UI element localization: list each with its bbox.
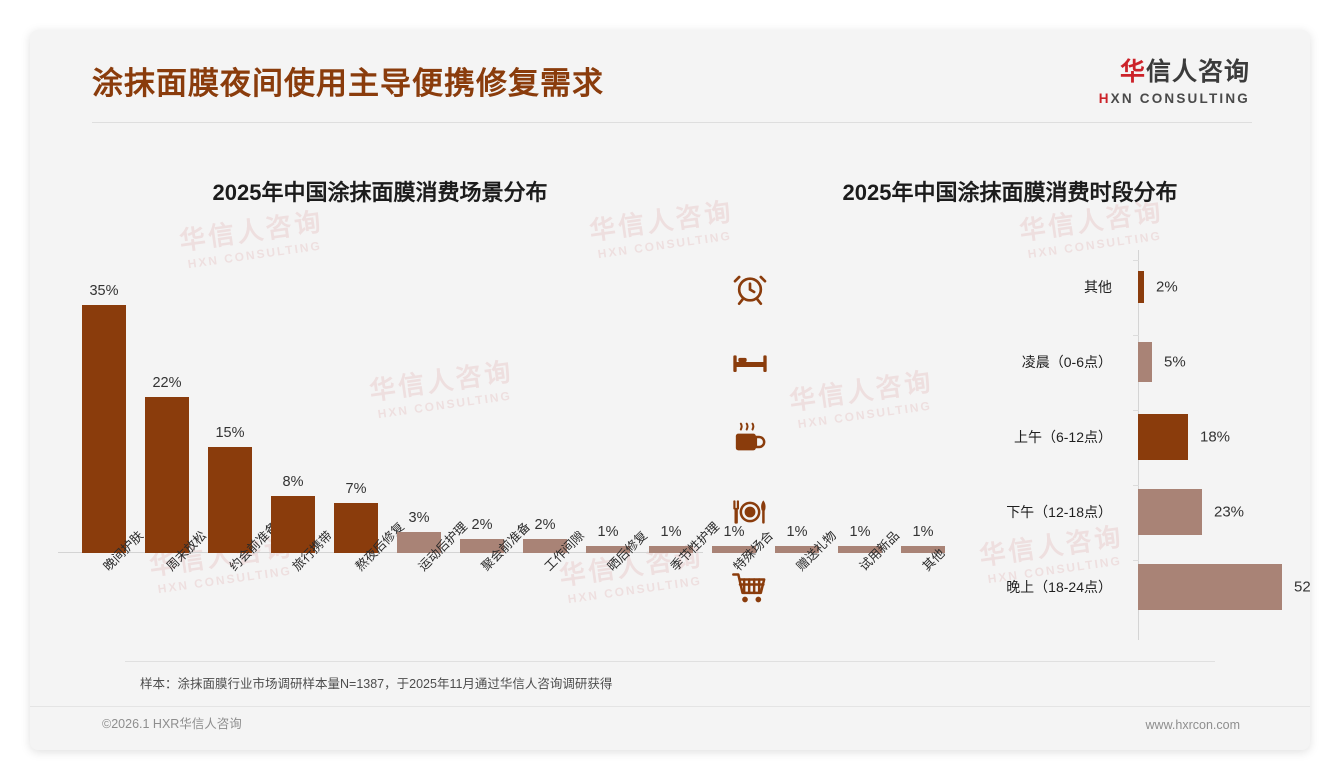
time-bar[interactable]: [1138, 271, 1144, 303]
time-bar-label: 其他: [1084, 277, 1112, 297]
time-chart-tick: [1133, 485, 1139, 486]
scene-bar-value: 7%: [346, 481, 367, 497]
time-chart-plot: 其他2%凌晨（0-6点）5%上午（6-12点）18%下午（12-18点）23%晚…: [720, 250, 1300, 660]
time-chart-tick: [1133, 560, 1139, 561]
time-bar-value: 18%: [1200, 429, 1230, 446]
logo-h-character: H: [1099, 91, 1111, 106]
scene-bar-value: 2%: [472, 517, 493, 533]
footer-divider: [30, 706, 1310, 707]
scene-bar-value: 2%: [535, 517, 556, 533]
logo-english-rest: XN CONSULTING: [1111, 91, 1250, 106]
time-bar-value: 23%: [1214, 504, 1244, 521]
logo-hua-character: 华: [1120, 58, 1146, 86]
scene-bar[interactable]: [145, 397, 189, 553]
time-bar-label: 上午（6-12点）: [1014, 427, 1112, 447]
time-bar[interactable]: [1138, 342, 1152, 382]
time-bar-label: 凌晨（0-6点）: [1022, 352, 1112, 372]
copyright-text: ©2026.1 HXR华信人咨询: [102, 713, 242, 732]
time-bar-label: 下午（12-18点）: [1006, 502, 1112, 522]
page-title: 涂抹面膜夜间使用主导便携修复需求: [92, 58, 604, 103]
scene-bar-value: 35%: [89, 283, 118, 299]
alarm-clock-icon: [730, 267, 772, 307]
time-chart-title: 2025年中国涂抹面膜消费时段分布: [720, 175, 1300, 207]
time-bar-row[interactable]: 下午（12-18点）23%: [720, 483, 1300, 541]
time-chart-tick: [1133, 260, 1139, 261]
time-bar[interactable]: [1138, 489, 1202, 535]
time-bar-row[interactable]: 其他2%: [720, 258, 1300, 316]
scene-bar-value: 8%: [283, 474, 304, 490]
plate-cutlery-icon: [730, 492, 772, 532]
sample-divider: [125, 661, 1215, 662]
bed-icon: [730, 342, 772, 382]
scene-chart-title: 2025年中国涂抹面膜消费场景分布: [40, 175, 720, 207]
logo-chinese: 华信人咨询: [1099, 60, 1250, 85]
time-chart-tick: [1133, 335, 1139, 336]
coffee-cup-icon: [730, 417, 772, 457]
slide-canvas: 华信人咨询 HXN CONSULTING 华信人咨询 HXN CONSULTIN…: [30, 30, 1310, 750]
time-bar[interactable]: [1138, 564, 1282, 610]
header-divider: [92, 122, 1252, 123]
time-bar-value: 2%: [1156, 279, 1178, 296]
scene-bar-value: 22%: [152, 375, 181, 391]
scene-bar-value: 3%: [409, 510, 430, 526]
scene-chart-plot: 35%晚间护肤22%周末放松15%约会前准备8%旅行携带7%熬夜后修复3%运动后…: [58, 250, 703, 650]
logo-english: HXN CONSULTING: [1099, 92, 1250, 106]
time-bar-row[interactable]: 上午（6-12点）18%: [720, 408, 1300, 466]
scene-bar[interactable]: [82, 305, 126, 553]
sample-note: 样本：涂抹面膜行业市场调研样本量N=1387，于2025年11月通过华信人咨询调…: [140, 673, 612, 692]
time-bar-row[interactable]: 晚上（18-24点）52%: [720, 558, 1300, 616]
slide-header: 涂抹面膜夜间使用主导便携修复需求 华信人咨询 HXN CONSULTING: [30, 30, 1310, 120]
logo-chinese-rest: 信人咨询: [1146, 58, 1250, 86]
scene-bar[interactable]: [208, 447, 252, 553]
scene-bar-value: 1%: [661, 524, 682, 540]
time-chart-tick: [1133, 410, 1139, 411]
time-bar-label: 晚上（18-24点）: [1006, 577, 1112, 597]
brand-logo: 华信人咨询 HXN CONSULTING: [1099, 60, 1250, 106]
scene-bar-value: 1%: [598, 524, 619, 540]
time-bar-value: 5%: [1164, 354, 1186, 371]
time-bar-row[interactable]: 凌晨（0-6点）5%: [720, 333, 1300, 391]
time-bar-value: 52%: [1294, 579, 1310, 596]
shopping-cart-icon: [730, 567, 772, 607]
scene-distribution-chart: 2025年中国涂抹面膜消费场景分布 35%晚间护肤22%周末放松15%约会前准备…: [40, 175, 720, 675]
time-distribution-chart: 2025年中国涂抹面膜消费时段分布 其他2%凌晨（0-6点）5%上午（6-12点…: [720, 175, 1300, 675]
scene-bar-value: 15%: [215, 425, 244, 441]
time-bar[interactable]: [1138, 414, 1188, 460]
site-url[interactable]: www.hxrcon.com: [1146, 718, 1240, 732]
